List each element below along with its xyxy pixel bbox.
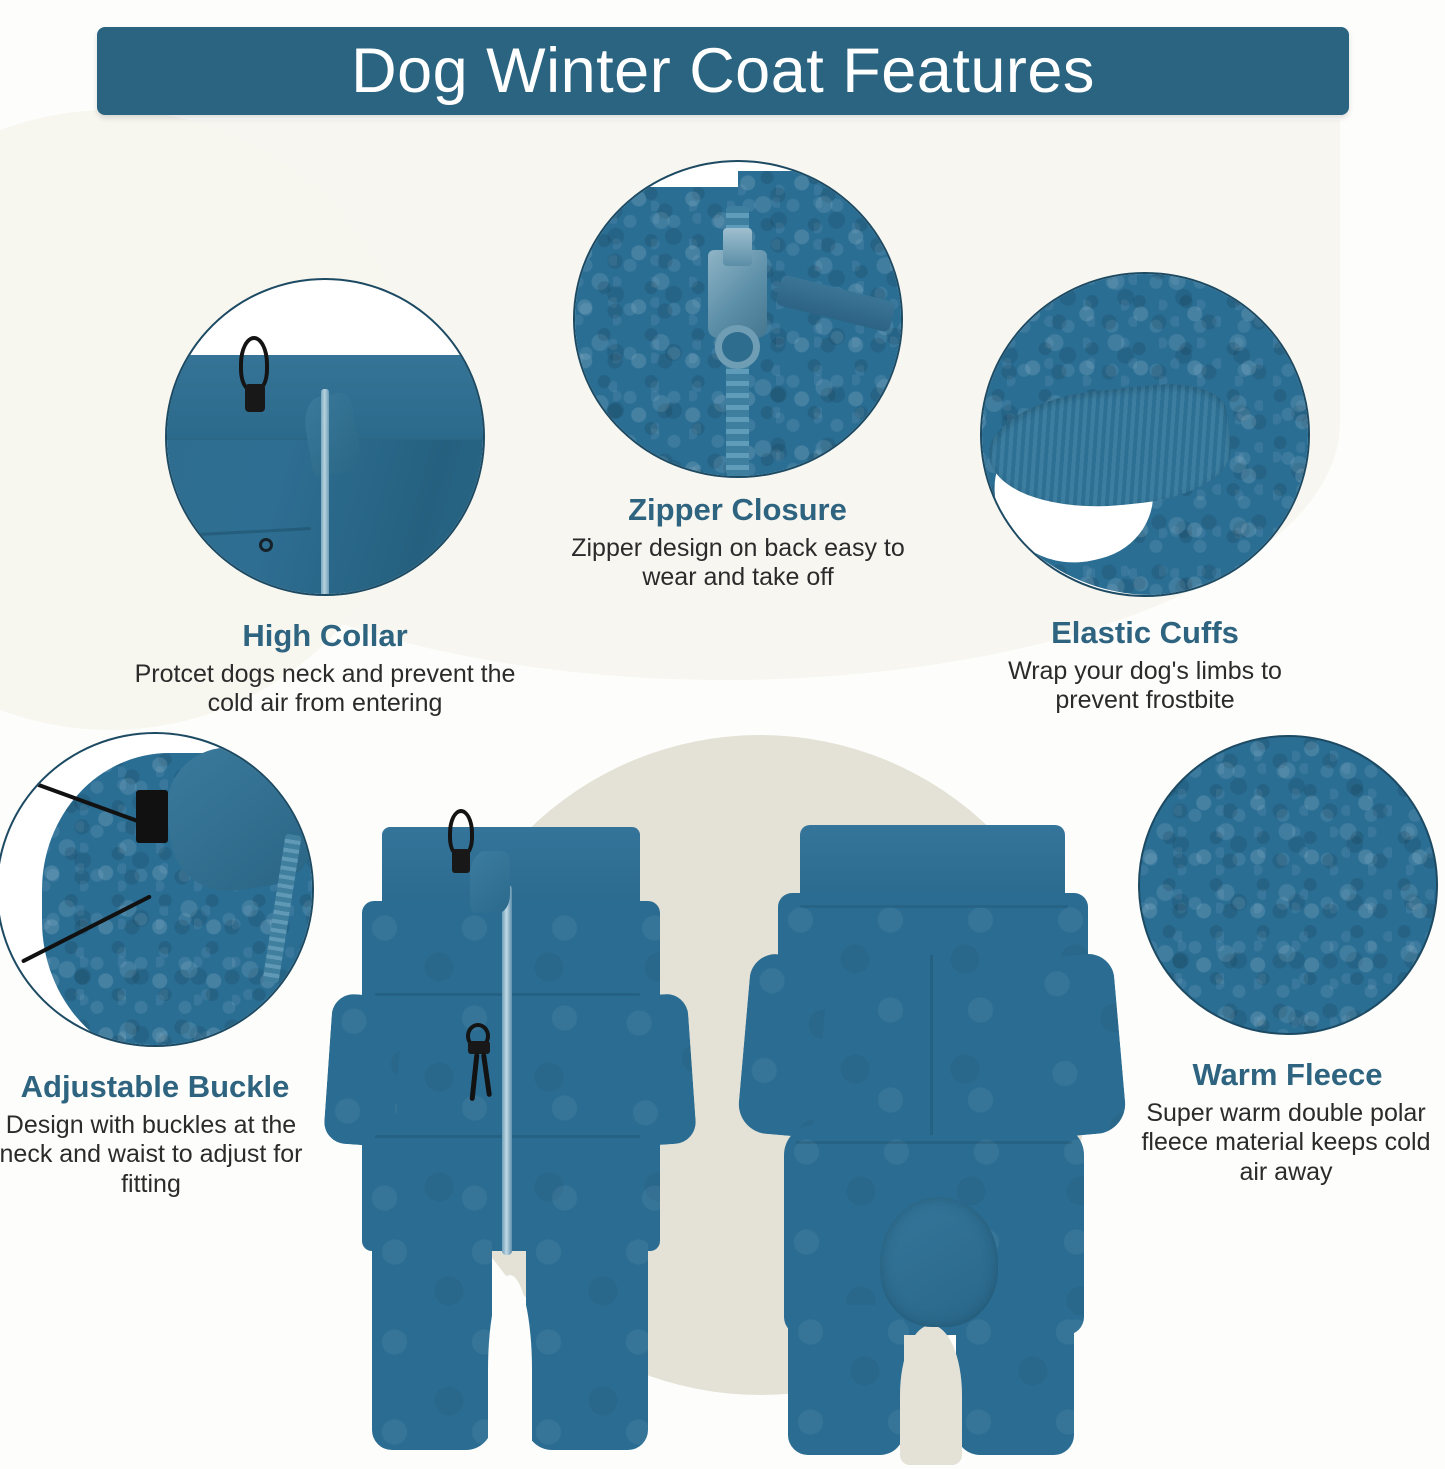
dog-coat-front-view bbox=[320, 805, 710, 1465]
fleece-title: Warm Fleece bbox=[1130, 1057, 1445, 1093]
buckle-title: Adjustable Buckle bbox=[0, 1069, 320, 1105]
back-left-sleeve bbox=[736, 952, 829, 1138]
dog-coat-back-view bbox=[740, 805, 1130, 1465]
front-inseam-gap bbox=[488, 1275, 532, 1465]
collar-detail-photo bbox=[165, 278, 485, 596]
front-right-leg bbox=[526, 1225, 648, 1450]
collar-cord-toggle bbox=[245, 384, 265, 412]
zipper-caption: Zipper Closure Zipper design on back eas… bbox=[565, 492, 910, 593]
buckle-detail-photo bbox=[0, 732, 314, 1047]
cuff-title: Elastic Cuffs bbox=[975, 615, 1315, 651]
front-collar-toggle bbox=[452, 849, 470, 873]
back-shoulder-seam bbox=[800, 905, 1068, 908]
back-belly-opening bbox=[880, 1197, 998, 1327]
back-right-sleeve bbox=[1032, 952, 1127, 1138]
buckle-cord-lock bbox=[136, 790, 167, 843]
collar-fabric bbox=[165, 355, 485, 596]
front-right-sleeve bbox=[615, 993, 697, 1148]
back-inseam-gap bbox=[900, 1325, 962, 1465]
collar-caption: High Collar Protcet dogs neck and preven… bbox=[150, 618, 500, 719]
back-left-leg bbox=[788, 1305, 904, 1455]
zipper-description: Zipper design on back easy to wear and t… bbox=[543, 534, 933, 593]
cuff-caption: Elastic Cuffs Wrap your dog's limbs to p… bbox=[975, 615, 1315, 716]
collar-eyelet bbox=[259, 538, 273, 552]
front-left-leg bbox=[372, 1225, 492, 1450]
front-waist-toggle bbox=[468, 1041, 490, 1054]
title-banner: Dog Winter Coat Features bbox=[97, 27, 1349, 115]
fleece-caption: Warm Fleece Super warm double polar flee… bbox=[1130, 1057, 1445, 1187]
back-right-leg bbox=[956, 1305, 1074, 1455]
front-collar-flap bbox=[470, 851, 510, 913]
feature-high-collar: High Collar Protcet dogs neck and preven… bbox=[150, 278, 500, 719]
collar-zipper bbox=[321, 389, 329, 596]
back-waist-seam bbox=[796, 1141, 1072, 1144]
back-center-seam bbox=[930, 955, 933, 1135]
feature-zipper-closure: Zipper Closure Zipper design on back eas… bbox=[565, 160, 910, 593]
collar-title: High Collar bbox=[150, 618, 500, 654]
cuff-description: Wrap your dog's limbs to prevent frostbi… bbox=[965, 657, 1325, 716]
cuff-detail-photo bbox=[980, 272, 1310, 597]
zipper-detail-photo bbox=[573, 160, 903, 478]
buckle-caption: Adjustable Buckle Design with buckles at… bbox=[0, 1069, 320, 1199]
zipper-title: Zipper Closure bbox=[565, 492, 910, 528]
page-title: Dog Winter Coat Features bbox=[351, 40, 1095, 103]
feature-elastic-cuffs: Elastic Cuffs Wrap your dog's limbs to p… bbox=[975, 272, 1315, 716]
zipper-top-stop bbox=[723, 228, 752, 266]
buckle-description: Design with buckles at the neck and wais… bbox=[0, 1111, 316, 1200]
fleece-texture-photo bbox=[1138, 735, 1438, 1035]
feature-adjustable-buckle: Adjustable Buckle Design with buckles at… bbox=[0, 732, 320, 1199]
infographic-root: Dog Winter Coat Features High Collar Pro… bbox=[0, 0, 1445, 1469]
feature-warm-fleece: Warm Fleece Super warm double polar flee… bbox=[1130, 735, 1445, 1187]
front-left-sleeve bbox=[323, 993, 403, 1148]
fleece-description: Super warm double polar fleece material … bbox=[1126, 1099, 1445, 1188]
collar-seam bbox=[165, 527, 311, 538]
collar-description: Protcet dogs neck and prevent the cold a… bbox=[125, 660, 525, 719]
front-center-zipper bbox=[502, 885, 512, 1255]
